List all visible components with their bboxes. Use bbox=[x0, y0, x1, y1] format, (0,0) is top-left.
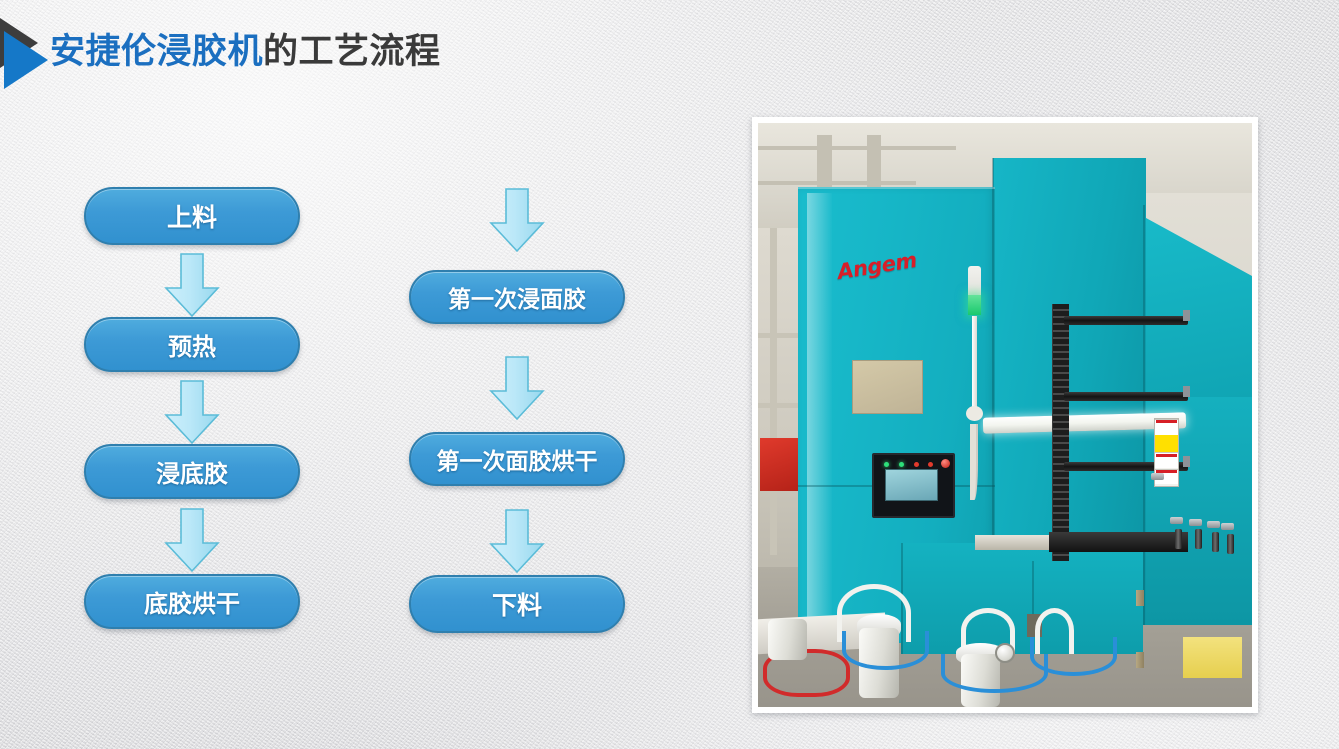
slide-canvas: 安捷伦浸胶机的工艺流程 上料 bbox=[0, 0, 1339, 749]
cable-chain bbox=[1052, 304, 1069, 561]
flow-arrow-down-5 bbox=[488, 355, 546, 421]
cabinet-hinge bbox=[1136, 590, 1144, 606]
flow-node-xialiao[interactable]: 下料 bbox=[409, 575, 625, 633]
flow-node-diyicijinmianjiao[interactable]: 第一次浸面胶 bbox=[409, 270, 625, 324]
door-handle[interactable] bbox=[1175, 529, 1182, 549]
door-handle[interactable] bbox=[1195, 529, 1202, 549]
warning-label-tag bbox=[1156, 420, 1176, 423]
machine-top-edge bbox=[798, 187, 996, 189]
pressure-gauge bbox=[995, 643, 1015, 663]
lamp-cable bbox=[970, 424, 977, 500]
flow-node-label: 上料 bbox=[167, 198, 217, 234]
warning-label-row-yellow bbox=[1155, 435, 1178, 452]
photo-wall-rib bbox=[770, 228, 777, 555]
photo-ceiling-beam bbox=[817, 135, 832, 193]
machine-front-sheen bbox=[807, 193, 832, 625]
machine-rail-cap bbox=[1183, 386, 1190, 397]
door-handle-plate[interactable] bbox=[1207, 521, 1220, 528]
door-handle-plate[interactable] bbox=[1221, 523, 1234, 530]
machine-rail bbox=[1064, 392, 1188, 401]
door-handle-plate[interactable] bbox=[1170, 517, 1183, 524]
photo-red-equipment bbox=[760, 438, 800, 491]
door-handle-plate[interactable] bbox=[1189, 519, 1202, 526]
photo-ceiling-beam bbox=[758, 181, 916, 185]
machine-rail-cap bbox=[1183, 310, 1190, 321]
door-handle[interactable] bbox=[1212, 532, 1219, 552]
machine-tray bbox=[1049, 532, 1187, 552]
machine-nameplate bbox=[852, 360, 923, 415]
flow-arrow-down-4 bbox=[488, 187, 546, 253]
white-hose bbox=[1035, 608, 1075, 654]
photo-floor-marking bbox=[1183, 637, 1242, 678]
warning-label-tag bbox=[1156, 454, 1176, 457]
door-handle-plate[interactable] bbox=[1151, 473, 1164, 480]
flow-node-label: 下料 bbox=[492, 586, 542, 622]
flow-arrow-down-2 bbox=[163, 379, 221, 445]
flow-node-yure[interactable]: 预热 bbox=[84, 317, 300, 372]
flow-node-dijiaohonggan[interactable]: 底胶烘干 bbox=[84, 574, 300, 629]
hmi-led-red bbox=[914, 462, 919, 467]
flow-node-label: 第一次面胶烘干 bbox=[437, 442, 598, 476]
flow-arrow-down-1 bbox=[163, 252, 221, 318]
stack-light-pole bbox=[972, 316, 976, 409]
flow-arrow-down-6 bbox=[488, 508, 546, 574]
machine-photo-frame: Angem bbox=[752, 117, 1258, 713]
flow-node-label: 预热 bbox=[168, 327, 216, 362]
flow-arrow-down-3 bbox=[163, 507, 221, 573]
flow-node-label: 底胶烘干 bbox=[144, 584, 240, 619]
control-box bbox=[768, 619, 808, 660]
flow-node-label: 浸底胶 bbox=[156, 454, 228, 489]
door-handle[interactable] bbox=[1227, 534, 1234, 554]
cabinet-hinge bbox=[1136, 652, 1144, 668]
machine-rail-cap bbox=[1183, 456, 1190, 467]
machine-rail bbox=[1064, 316, 1188, 325]
machine-photo: Angem bbox=[758, 123, 1252, 707]
stack-light-green-icon bbox=[968, 295, 981, 315]
process-flow-diagram: 上料 预热 bbox=[0, 0, 700, 749]
flow-node-diyicimianjiaohonggan[interactable]: 第一次面胶烘干 bbox=[409, 432, 625, 486]
blue-hose bbox=[842, 631, 929, 670]
photo-ceiling-beam bbox=[867, 135, 882, 188]
photo-ceiling-beam bbox=[758, 146, 956, 150]
flow-node-shangliao[interactable]: 上料 bbox=[84, 187, 300, 245]
hmi-screen[interactable] bbox=[885, 469, 937, 501]
hmi-led-green bbox=[884, 462, 889, 467]
flow-node-label: 第一次浸面胶 bbox=[448, 280, 586, 314]
flow-node-jindijiao[interactable]: 浸底胶 bbox=[84, 444, 300, 499]
hmi-led-green bbox=[899, 462, 904, 467]
